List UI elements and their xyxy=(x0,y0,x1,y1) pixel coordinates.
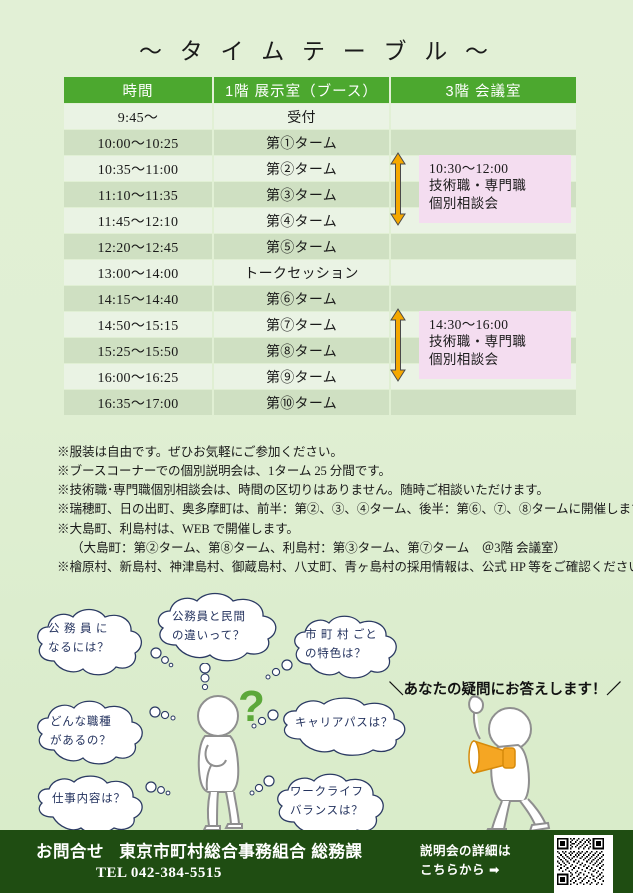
consultation-title-line1: 技術職・専門職 xyxy=(429,177,571,194)
cell-booth: 第⑥ターム xyxy=(214,286,389,311)
consultation-box-afternoon: 14:30～16:00 技術職・専門職 個別相談会 xyxy=(419,311,571,379)
note-line: ※技術職･専門職個別相談会は、時間の区切りはありません。随時ご相談いただけます。 xyxy=(57,481,632,500)
contact-label: お問合せ xyxy=(36,843,104,861)
column-header-booth: 1階 展示室（ブース） xyxy=(214,77,389,103)
note-line: ※服装は自由です。ぜひお気軽にご参加ください。 xyxy=(57,443,632,462)
cell-time: 10:35～11:00 xyxy=(64,156,212,181)
cell-booth: トークセッション xyxy=(214,260,389,285)
cell-time: 12:20～12:45 xyxy=(64,234,212,259)
thought-bubble-tail xyxy=(248,773,276,797)
footer-bar: お問合せ 東京市町村総合事務組合 総務課 TEL 042-384-5515 説明… xyxy=(0,830,633,893)
telephone-number: TEL 042-384-5515 xyxy=(36,865,362,882)
qr-code-image xyxy=(557,838,604,885)
consultation-box-morning: 10:30～12:00 技術職・専門職 個別相談会 xyxy=(419,155,571,223)
cell-time: 9:45～ xyxy=(64,104,212,129)
thought-bubble-shape xyxy=(28,773,154,835)
consultation-title-line2: 個別相談会 xyxy=(429,195,571,212)
cell-booth: 第④ターム xyxy=(214,208,389,233)
table-row: 10:00～10:25第①ターム xyxy=(64,130,576,155)
cell-time: 14:15～14:40 xyxy=(64,286,212,311)
cell-time: 10:00～10:25 xyxy=(64,130,212,155)
cell-time: 11:45～12:10 xyxy=(64,208,212,233)
cell-booth: 第⑦ターム xyxy=(214,312,389,337)
cell-booth: 第①ターム xyxy=(214,130,389,155)
contact-line-org: お問合せ 東京市町村総合事務組合 総務課 xyxy=(36,838,362,862)
illustration-area: 公 務 員 になるには？ 公務員と民間の違いって？ 市 町 村 ごとの特色は？ xyxy=(0,575,633,830)
cell-time: 13:00～14:00 xyxy=(64,260,212,285)
cell-booth: 受付 xyxy=(214,104,389,129)
cell-booth: 第③ターム xyxy=(214,182,389,207)
cell-room xyxy=(391,286,576,311)
table-row: 16:35～17:00第⑩ターム xyxy=(64,390,576,415)
note-line: ※大島町、利島村は、WEB で開催します。 xyxy=(57,520,632,539)
thought-bubble-shape xyxy=(272,695,420,757)
qr-code[interactable] xyxy=(554,835,613,893)
note-line: ※瑞穂町、日の出町、奥多摩町は、前半：第②、③、④ターム、後半：第⑥、⑦、⑧ター… xyxy=(57,500,632,519)
note-line: （大島町：第②ターム、第⑧ターム、利島村：第③ターム、第⑦ターム ＠3階 会議室… xyxy=(57,539,632,558)
double-arrow-icon-morning xyxy=(390,152,406,226)
notes-list: ※服装は自由です。ぜひお気軽にご参加ください。※ブースコーナーでの個別説明会は、… xyxy=(57,443,632,577)
cell-room xyxy=(391,104,576,129)
answer-banner: ＼あなたの疑問にお答えします！／ xyxy=(382,678,628,699)
double-arrow-icon-afternoon xyxy=(390,308,406,382)
column-header-time: 時間 xyxy=(64,77,212,103)
column-header-room: 3階 会議室 xyxy=(391,77,576,103)
qr-instruction-line1: 説明会の詳細は xyxy=(420,842,511,861)
cell-time: 11:10～11:35 xyxy=(64,182,212,207)
consultation-time: 10:30～12:00 xyxy=(429,160,571,177)
thought-bubble-shape xyxy=(28,695,154,773)
table-row: 13:00～14:00トークセッション xyxy=(64,260,576,285)
thought-bubble-shape xyxy=(285,610,407,686)
cell-booth: 第②ターム xyxy=(214,156,389,181)
consultation-title-line1: 技術職・専門職 xyxy=(429,333,571,350)
cell-booth: 第⑩ターム xyxy=(214,390,389,415)
cell-booth: 第⑤ターム xyxy=(214,234,389,259)
organization-name: 東京市町村総合事務組合 総務課 xyxy=(119,843,362,861)
cell-room xyxy=(391,260,576,285)
table-row: 14:15～14:40第⑥ターム xyxy=(64,286,576,311)
poster-root: ～ タ イ ム テ ー ブ ル ～ 時間 1階 展示室（ブース） 3階 会議室 … xyxy=(0,0,633,893)
cell-room xyxy=(391,234,576,259)
thought-bubble-tail xyxy=(148,702,178,724)
cell-room xyxy=(391,130,576,155)
thought-bubble-shape xyxy=(28,603,153,685)
consultation-time: 14:30～16:00 xyxy=(429,316,571,333)
cell-time: 14:50～15:15 xyxy=(64,312,212,337)
cell-time: 16:00～16:25 xyxy=(64,364,212,389)
cell-time: 15:25～15:50 xyxy=(64,338,212,363)
question-mark-icon: ? xyxy=(238,685,272,733)
cell-booth: 第⑨ターム xyxy=(214,364,389,389)
thought-bubble-shape xyxy=(148,589,290,669)
thought-bubble-tail xyxy=(196,663,214,695)
cell-room xyxy=(391,390,576,415)
consultation-title-line2: 個別相談会 xyxy=(429,351,571,368)
note-line: ※ブースコーナーでの個別説明会は、1ターム 25 分間です。 xyxy=(57,462,632,481)
cell-time: 16:35～17:00 xyxy=(64,390,212,415)
thought-bubble-tail xyxy=(262,659,294,681)
svg-text:?: ? xyxy=(238,685,265,731)
page-title: ～ タ イ ム テ ー ブ ル ～ xyxy=(0,32,633,66)
thought-bubble-tail xyxy=(144,778,174,800)
cell-booth: 第⑧ターム xyxy=(214,338,389,363)
qr-instruction-line2: こちらから xyxy=(420,861,485,880)
right-arrow-icon: ➡ xyxy=(489,861,500,880)
qr-instruction: 説明会の詳細は こちらから ➡ xyxy=(420,842,511,881)
table-row: 9:45～受付 xyxy=(64,104,576,129)
table-row: 12:20～12:45第⑤ターム xyxy=(64,234,576,259)
megaphone-person-icon xyxy=(450,685,560,831)
table-header-row: 時間 1階 展示室（ブース） 3階 会議室 xyxy=(64,77,576,103)
contact-block: お問合せ 東京市町村総合事務組合 総務課 TEL 042-384-5515 xyxy=(36,838,362,882)
